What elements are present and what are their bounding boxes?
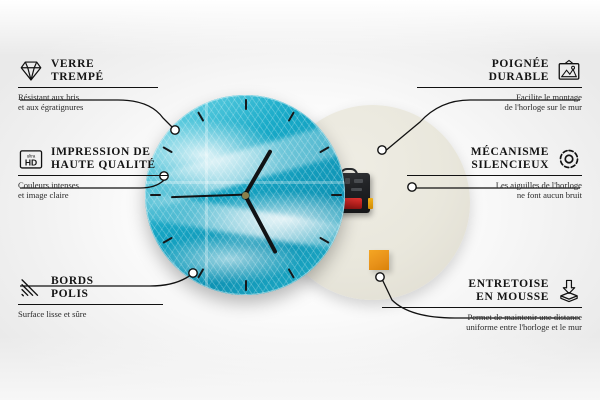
callout-title-line1: BORDS (51, 275, 94, 288)
clock-face (145, 95, 345, 295)
callout-title-line1: MÉCANISME (471, 146, 549, 159)
callout-desc-line2: de l'horloge sur le mur (417, 102, 582, 113)
callout-divider (382, 307, 582, 308)
polished-edges-icon (18, 275, 44, 301)
callout-divider (407, 175, 582, 176)
callout-silent-mechanism[interactable]: MÉCANISME SILENCIEUX Les aiguilles de l'… (407, 146, 582, 201)
svg-text:HD: HD (25, 158, 37, 168)
callout-divider (18, 304, 163, 305)
callout-title-line2: HAUTE QUALITÉ (51, 159, 156, 172)
callout-header: MÉCANISME SILENCIEUX (407, 146, 582, 172)
callout-title-line2: EN MOUSSE (468, 291, 549, 304)
callout-desc-line2: et aux égratignures (18, 102, 158, 113)
callout-desc-line1: Facilite le montage (417, 92, 582, 103)
hands-center-cap (242, 192, 249, 199)
clock-tick (245, 280, 247, 291)
callout-divider (417, 87, 582, 88)
callout-title-line2: SILENCIEUX (471, 159, 549, 172)
callout-header: VERRE TREMPÉ (18, 58, 158, 84)
infographic-canvas: VERRE TREMPÉ Résistant aux bris et aux é… (0, 0, 600, 400)
callout-durable-handle[interactable]: POIGNÉE DURABLE Facilite le montage de l… (417, 58, 582, 113)
battery-terminal (368, 198, 373, 209)
callout-title-line2: POLIS (51, 288, 94, 301)
callout-desc-line1: Les aiguilles de l'horloge (407, 180, 582, 191)
diamond-icon (18, 58, 44, 84)
callout-title-line1: VERRE (51, 58, 104, 71)
callout-header: POIGNÉE DURABLE (417, 58, 582, 84)
callout-desc-line2: ne font aucun bruit (407, 190, 582, 201)
foam-spacer-icon (556, 278, 582, 304)
callout-divider (18, 175, 168, 176)
picture-hanger-icon (556, 58, 582, 84)
callout-desc-line2: uniforme entre l'horloge et le mur (382, 322, 582, 333)
callout-high-quality-print[interactable]: ultra HD IMPRESSION DE HAUTE QUALITÉ Cou… (18, 146, 168, 201)
callout-header: ENTRETOISE EN MOUSSE (382, 278, 582, 304)
gear-icon (556, 146, 582, 172)
callout-title-line2: TREMPÉ (51, 71, 104, 84)
callout-desc-line1: Résistant aux bris (18, 92, 158, 103)
clock-tick (331, 194, 342, 196)
callout-title-line1: ENTRETOISE (468, 278, 549, 291)
callout-desc-line1: Permet de maintenir une distance (382, 312, 582, 323)
callout-polished-edges[interactable]: BORDS POLIS Surface lisse et sûre (18, 275, 163, 319)
callout-divider (18, 87, 158, 88)
callout-foam-spacer[interactable]: ENTRETOISE EN MOUSSE Permet de maintenir… (382, 278, 582, 333)
callout-title-line1: POIGNÉE (489, 58, 549, 71)
callout-header: ultra HD IMPRESSION DE HAUTE QUALITÉ (18, 146, 168, 172)
callout-desc-line1: Couleurs intenses (18, 180, 168, 191)
callout-desc-line2: et image claire (18, 190, 168, 201)
callout-header: BORDS POLIS (18, 275, 163, 301)
callout-desc-line1: Surface lisse et sûre (18, 309, 163, 320)
foam-spacer-part (369, 250, 389, 270)
callout-title-line2: DURABLE (489, 71, 549, 84)
clock-tick (245, 99, 247, 110)
callout-tempered-glass[interactable]: VERRE TREMPÉ Résistant aux bris et aux é… (18, 58, 158, 113)
callout-title-line1: IMPRESSION DE (51, 146, 156, 159)
ultra-hd-icon: ultra HD (18, 146, 44, 172)
